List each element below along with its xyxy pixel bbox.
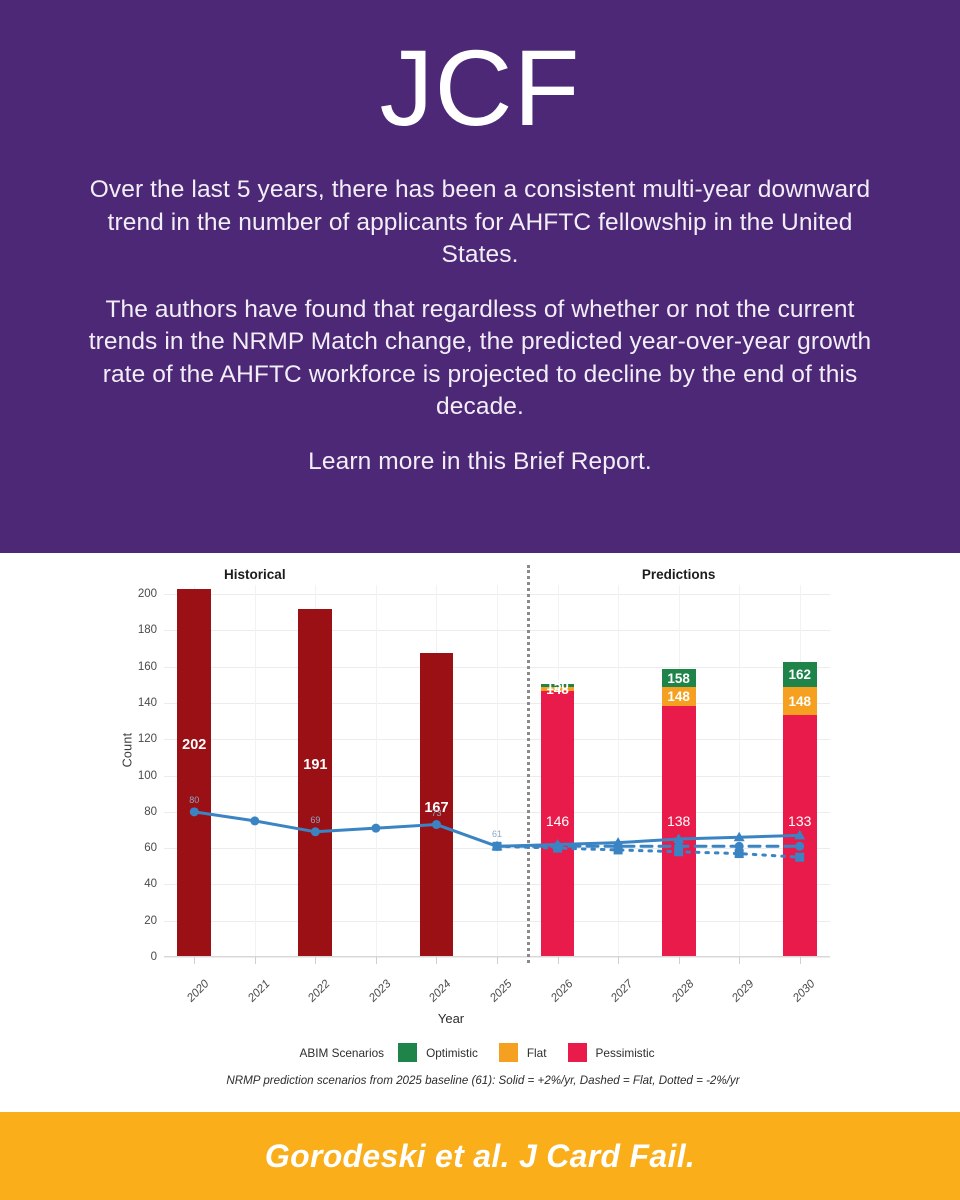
- nrmp-point-label: 73: [431, 808, 441, 818]
- x-axis-tick: 2021: [246, 978, 273, 1005]
- legend-label-flat: Flat: [527, 1046, 547, 1060]
- y-axis-tick: 0: [151, 951, 157, 963]
- y-axis-tick: 100: [138, 770, 157, 782]
- nrmp-data-point: [432, 820, 441, 829]
- nrmp-point-label: 80: [189, 795, 199, 805]
- y-axis-tick: 140: [138, 697, 157, 709]
- x-axis-tick: 2027: [609, 978, 636, 1005]
- citation-text: Gorodeski et al. J Card Fail.: [265, 1138, 695, 1175]
- nrmp-data-point: [311, 827, 320, 836]
- nrmp-data-point: [795, 842, 804, 851]
- nrmp-data-point: [735, 849, 744, 858]
- x-axis-tick: 2028: [670, 978, 697, 1005]
- y-axis-tick: 200: [138, 588, 157, 600]
- x-tickmark: [376, 957, 377, 964]
- plot-area: 0204060801001201401601802002020202120222…: [164, 585, 830, 957]
- x-axis-tick: 2025: [488, 978, 515, 1005]
- call-to-action: Learn more in this Brief Report.: [80, 446, 880, 479]
- header-banner: JCF Over the last 5 years, there has bee…: [0, 0, 960, 553]
- nrmp-point-label: 61: [492, 829, 502, 839]
- x-axis-tick: 2030: [791, 978, 818, 1005]
- y-axis-tick: 180: [138, 624, 157, 636]
- chart-legend: ABIM Scenarios Optimistic Flat Pessimist…: [118, 1043, 848, 1062]
- x-axis-tick: 2020: [185, 978, 212, 1005]
- x-tickmark: [497, 957, 498, 964]
- y-axis-tick: 160: [138, 661, 157, 673]
- x-tickmark: [315, 957, 316, 964]
- infographic-page: JCF Over the last 5 years, there has bee…: [0, 0, 960, 1200]
- x-tickmark: [739, 957, 740, 964]
- legend-label-pessimistic: Pessimistic: [596, 1046, 655, 1060]
- y-axis-tick: 40: [144, 878, 157, 890]
- y-axis-label: Count: [120, 733, 134, 768]
- nrmp-line-layer: [164, 585, 830, 957]
- x-tickmark: [679, 957, 680, 964]
- x-axis-label: Year: [438, 1011, 464, 1026]
- nrmp-data-point: [614, 845, 623, 854]
- chart-section-title: Historical: [224, 567, 286, 582]
- x-tickmark: [800, 957, 801, 964]
- y-axis-tick: 60: [144, 842, 157, 854]
- y-axis-tick: 80: [144, 806, 157, 818]
- legend-title: ABIM Scenarios: [299, 1046, 384, 1060]
- x-axis-tick: 2026: [548, 978, 575, 1005]
- nrmp-point-label: 69: [310, 815, 320, 825]
- chart-inner: Count 0204060801001201401601802002020202…: [118, 563, 848, 1108]
- x-axis-tick: 2029: [730, 978, 757, 1005]
- nrmp-data-point: [553, 844, 562, 853]
- nrmp-data-point: [674, 847, 683, 856]
- x-tickmark: [618, 957, 619, 964]
- summary-text: Over the last 5 years, there has been a …: [80, 174, 880, 479]
- summary-paragraph-1: Over the last 5 years, there has been a …: [80, 174, 880, 272]
- nrmp-data-point: [250, 816, 259, 825]
- journal-logo: JCF: [380, 34, 581, 142]
- x-tickmark: [558, 957, 559, 964]
- nrmp-line-solid: [194, 812, 497, 846]
- nrmp-data-point: [190, 807, 199, 816]
- nrmp-line-solid: [497, 835, 800, 846]
- legend-swatch-optimistic: [398, 1043, 417, 1062]
- legend-swatch-flat: [499, 1043, 518, 1062]
- x-axis-tick: 2024: [427, 978, 454, 1005]
- chart-panel: Count 0204060801001201401601802002020202…: [0, 553, 960, 1108]
- x-tickmark: [255, 957, 256, 964]
- legend-label-optimistic: Optimistic: [426, 1046, 478, 1060]
- x-axis-tick: 2023: [367, 978, 394, 1005]
- nrmp-line-dotted: [497, 846, 800, 857]
- summary-paragraph-2: The authors have found that regardless o…: [80, 294, 880, 424]
- chart-section-title: Predictions: [642, 567, 716, 582]
- chart-footnote: NRMP prediction scenarios from 2025 base…: [118, 1074, 848, 1087]
- x-tickmark: [194, 957, 195, 964]
- x-tickmark: [436, 957, 437, 964]
- footer-banner: Gorodeski et al. J Card Fail.: [0, 1112, 960, 1200]
- y-axis-tick: 20: [144, 915, 157, 927]
- nrmp-data-point: [493, 842, 502, 851]
- legend-swatch-pessimistic: [568, 1043, 587, 1062]
- nrmp-data-point: [795, 853, 804, 862]
- x-axis-tick: 2022: [306, 978, 333, 1005]
- nrmp-data-point: [371, 824, 380, 833]
- y-axis-tick: 120: [138, 733, 157, 745]
